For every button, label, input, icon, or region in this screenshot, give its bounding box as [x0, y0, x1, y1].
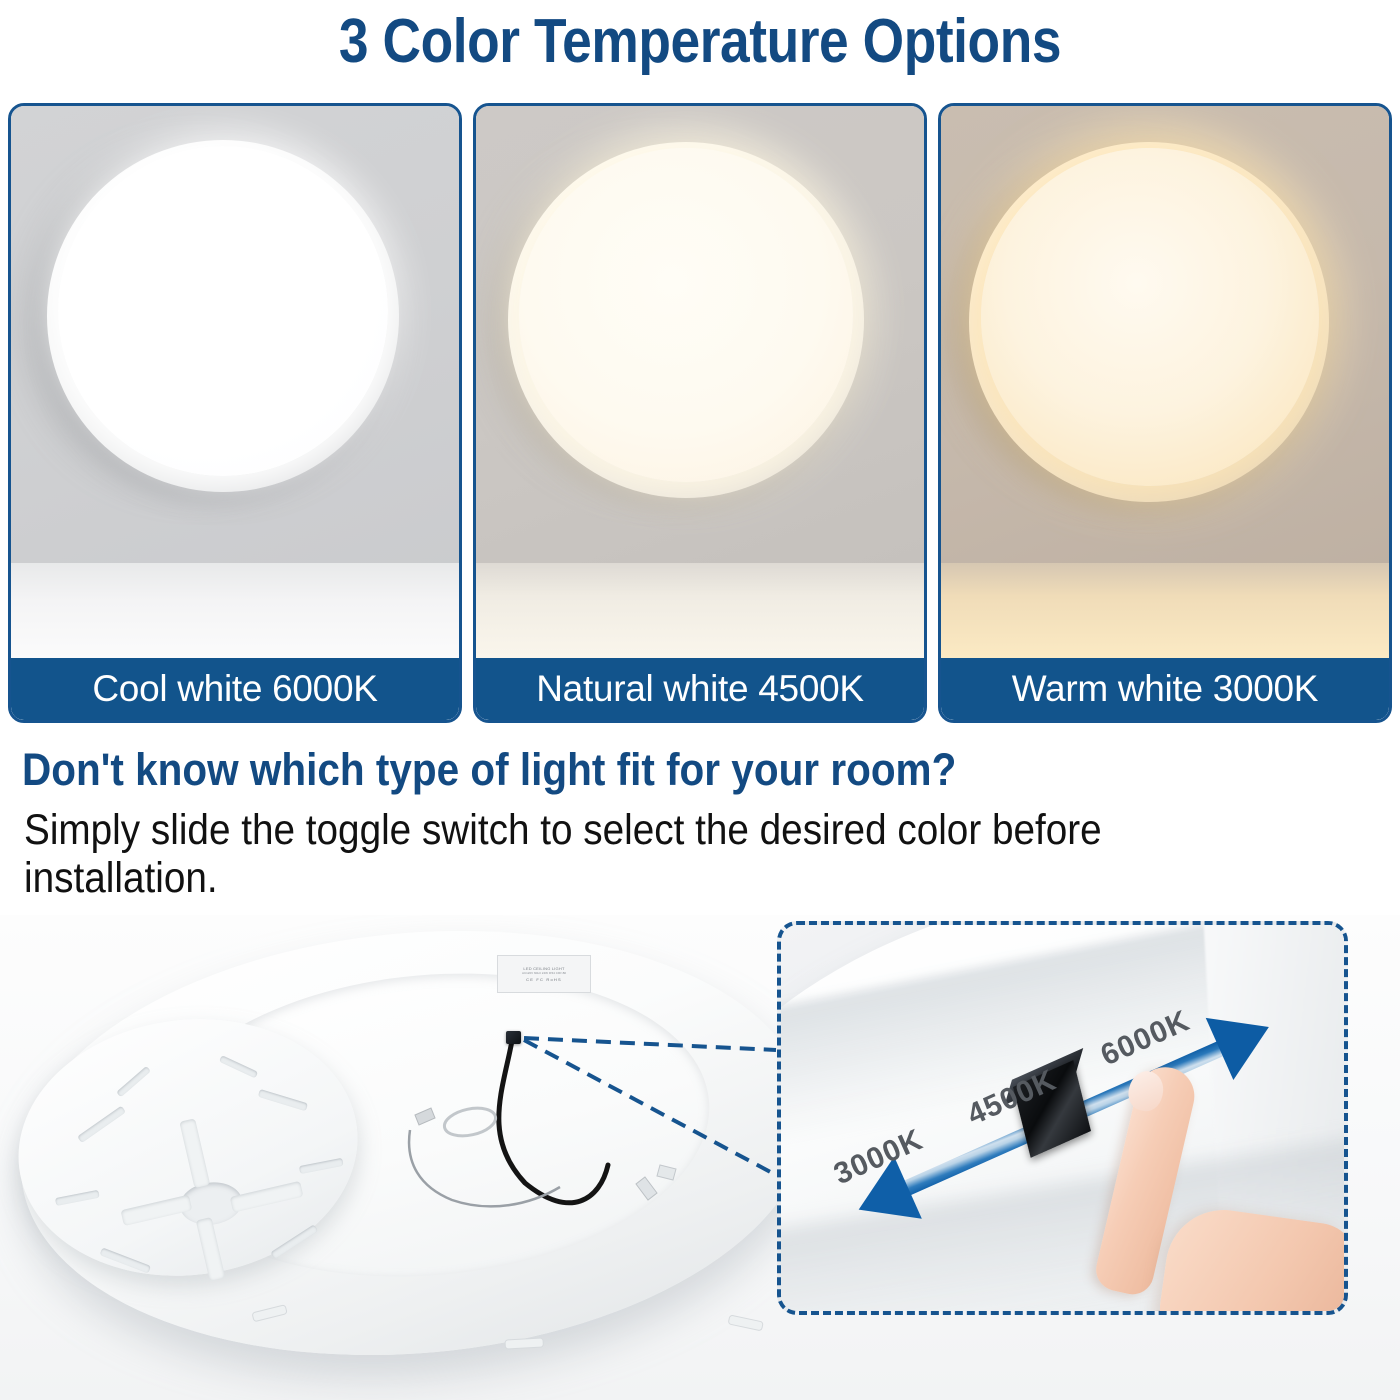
spec-label-details: AC120V 60Hz 24W IP44 CRI>80	[522, 972, 566, 976]
panel-cool-white[interactable]: Cool white 6000K	[8, 103, 462, 723]
toggle-switch-on-product[interactable]	[506, 1031, 521, 1044]
certification-marks: CE FC RoHS	[526, 977, 562, 982]
floor-surface	[476, 563, 924, 658]
lamp-glow-disc	[519, 148, 853, 482]
lamp-glow-disc	[58, 146, 388, 476]
panel-label-cool-white: Cool white 6000K	[11, 658, 459, 720]
section-headline: Don't know which type of light fit for y…	[22, 744, 956, 796]
floor-surface	[11, 563, 459, 658]
panel-label-natural-white: Natural white 4500K	[476, 658, 924, 720]
panel-warm-white[interactable]: Warm white 3000K	[938, 103, 1392, 723]
product-spec-label: LED CEILING LIGHT AC120V 60Hz 24W IP44 C…	[497, 955, 591, 993]
product-photo-natural-white	[476, 106, 924, 658]
page-title: 3 Color Temperature Options	[98, 6, 1302, 77]
product-photo-cool-white	[11, 106, 459, 658]
floor-surface	[941, 563, 1389, 658]
color-temperature-panels: Cool white 6000K Natural white 4500K War…	[8, 103, 1392, 723]
toggle-switch-zoom-callout: 3000K 4500K 6000K	[777, 921, 1348, 1315]
lamp-glow-disc	[981, 148, 1319, 486]
pointing-hand	[1081, 1065, 1348, 1315]
product-photo-warm-white	[941, 106, 1389, 658]
panel-label-warm-white: Warm white 3000K	[941, 658, 1389, 720]
section-body-text: Simply slide the toggle switch to select…	[24, 806, 1221, 902]
panel-natural-white[interactable]: Natural white 4500K	[473, 103, 927, 723]
hand-knuckles	[1153, 1203, 1348, 1315]
